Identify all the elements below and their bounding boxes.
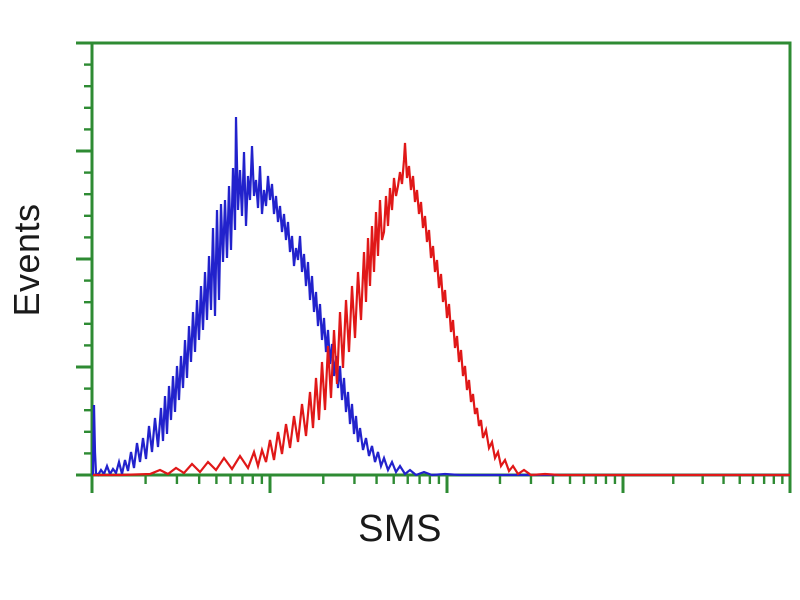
y-axis-ticks (76, 43, 92, 475)
plot-background (92, 43, 790, 475)
flow-cytometry-figure: SMS Events (0, 0, 800, 600)
y-axis-label: Events (4, 40, 50, 480)
x-axis-label: SMS (0, 508, 800, 551)
x-axis-ticks (92, 475, 790, 493)
